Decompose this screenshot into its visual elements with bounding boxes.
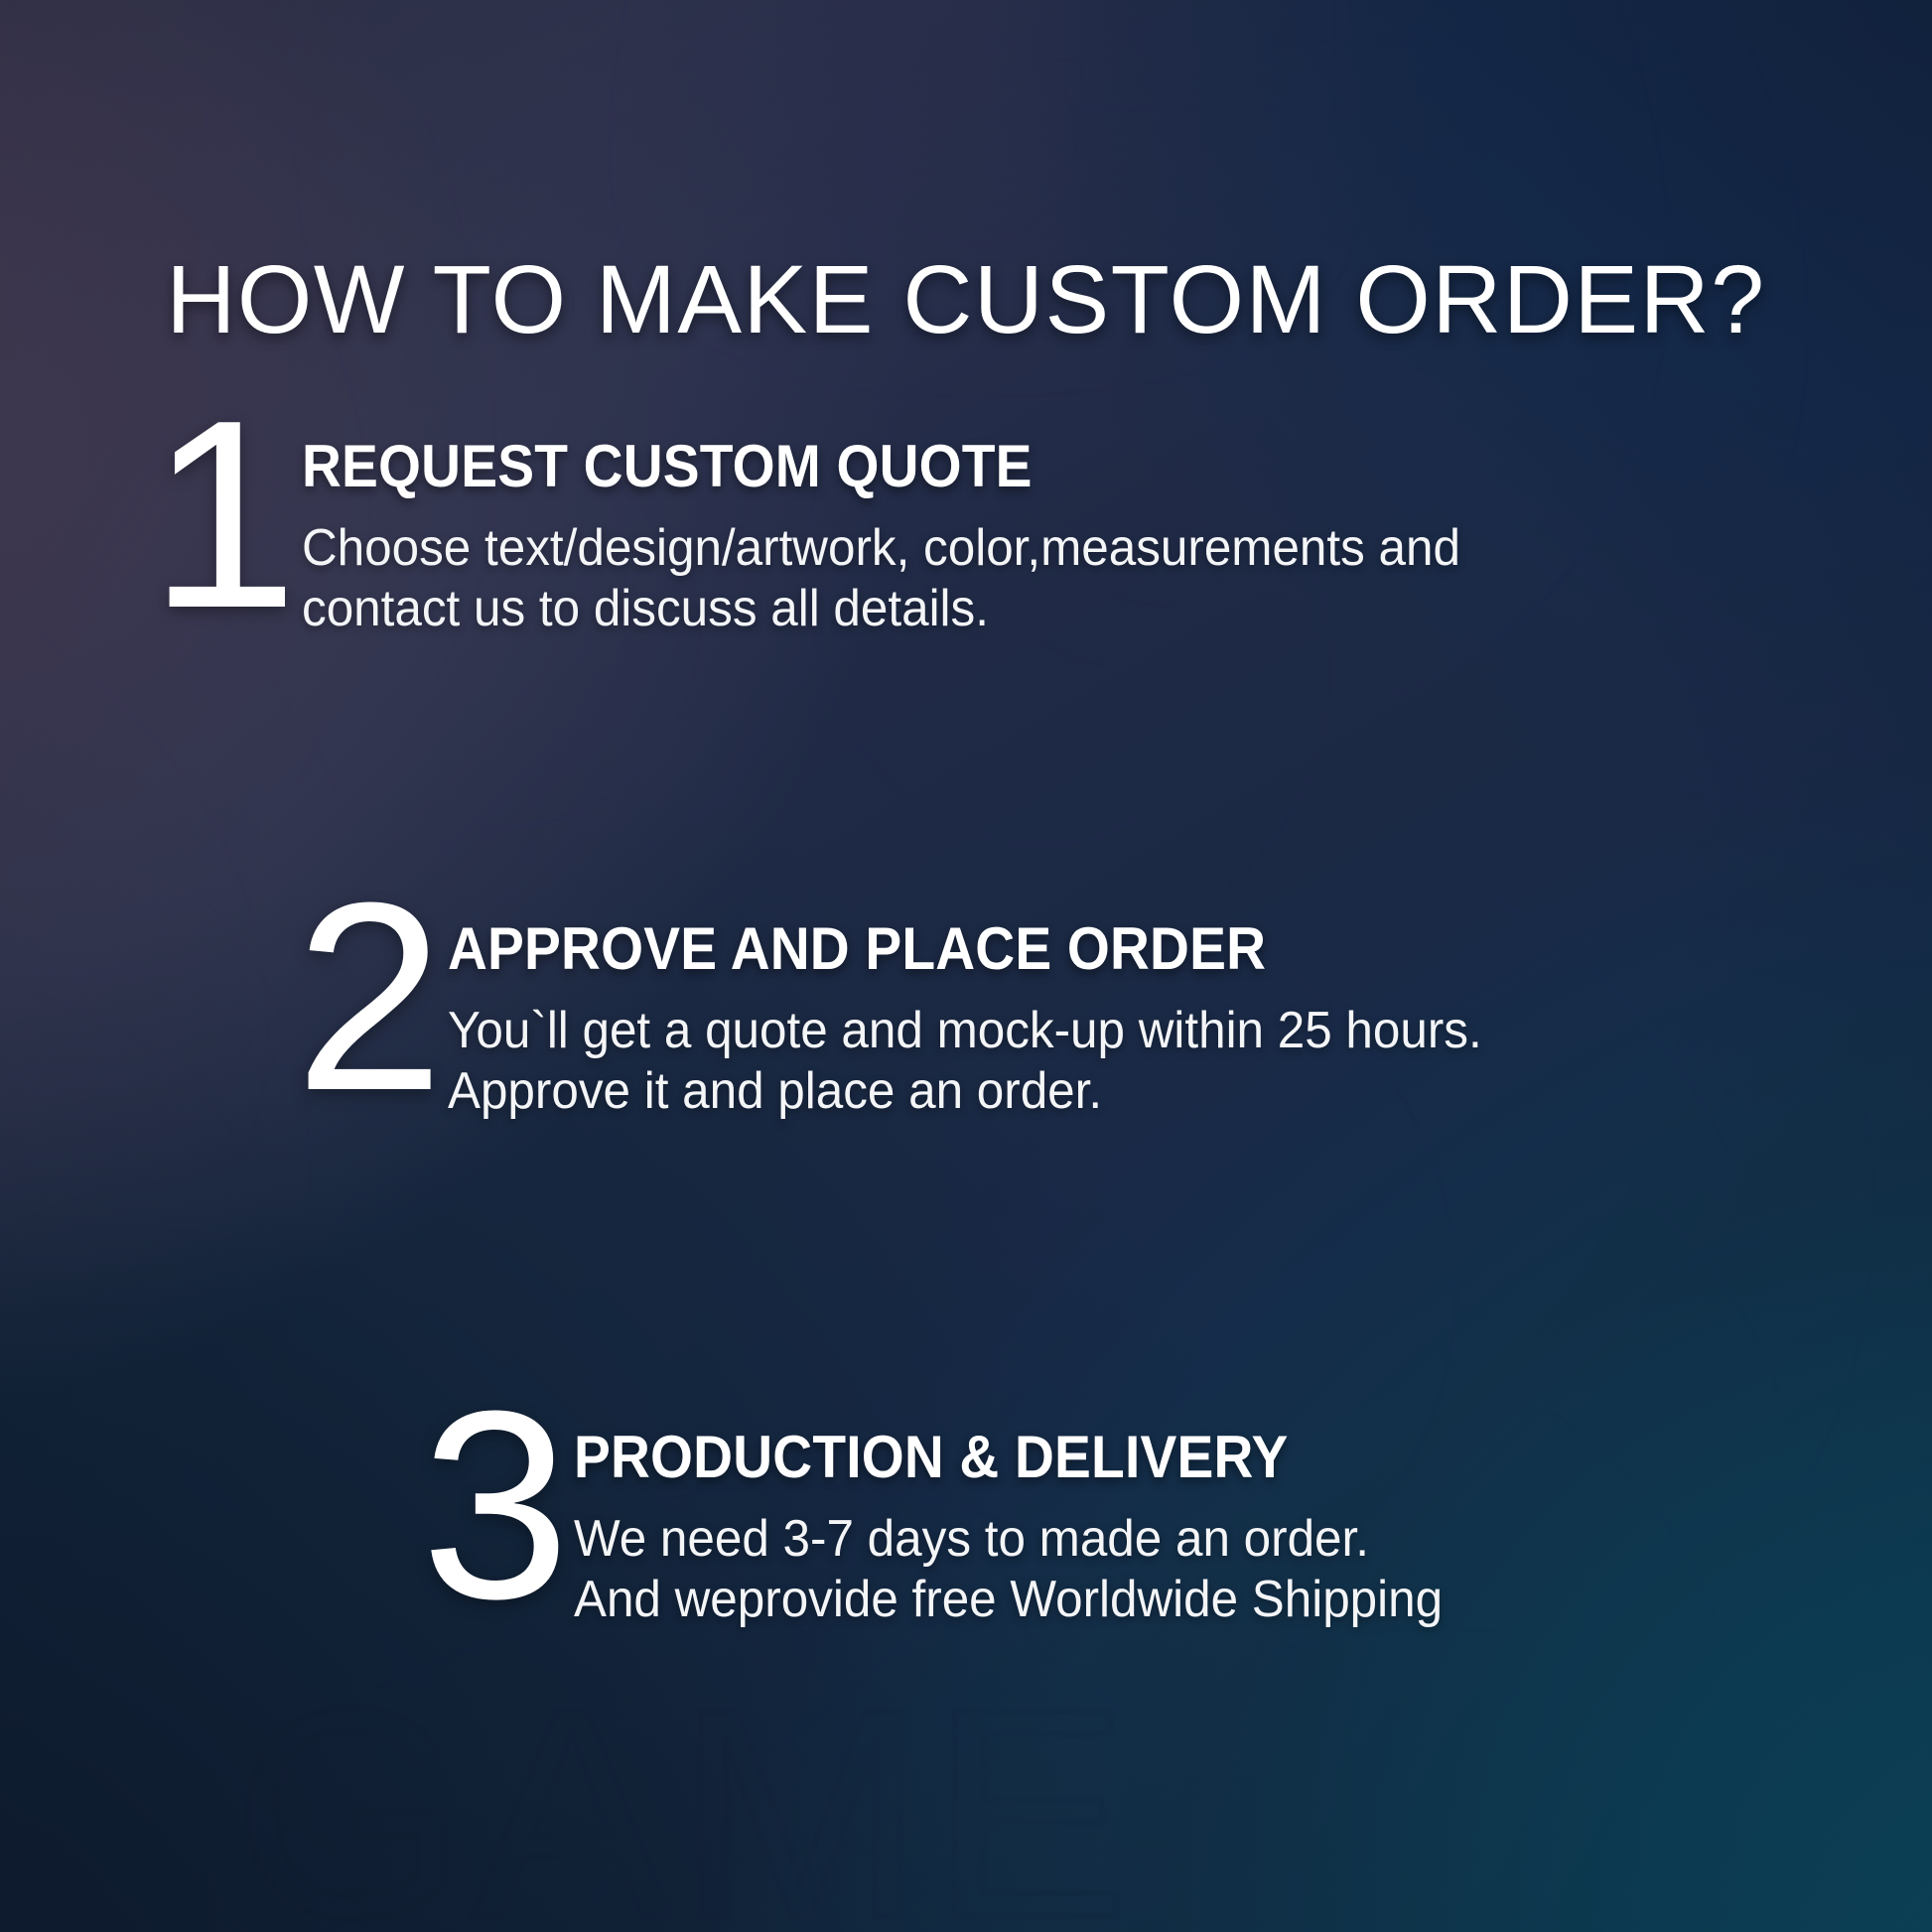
step-number-3: 3 [421,1402,566,1611]
step-description-1: Choose text/design/artwork, color,measur… [302,518,1460,640]
step-description-3: We need 3-7 days to made an order. And w… [574,1509,1443,1631]
step-heading-1: REQUEST CUSTOM QUOTE [302,437,1424,496]
step-item-3: 3 PRODUCTION & DELIVERY We need 3-7 days… [421,1402,1488,1631]
step-content-3: PRODUCTION & DELIVERY We need 3-7 days t… [574,1402,1488,1631]
step-heading-2: APPROVE AND PLACE ORDER [448,919,1449,979]
step-heading-3: PRODUCTION & DELIVERY [574,1428,1415,1487]
poster-content: HOW TO MAKE CUSTOM ORDER? 1 REQUEST CUST… [0,0,1932,1932]
step-description-2: You`ll get a quote and mock-up within 25… [448,1001,1482,1123]
step-content-2: APPROVE AND PLACE ORDER You`ll get a quo… [448,894,1537,1123]
step-item-1: 1 REQUEST CUSTOM QUOTE Choose text/desig… [149,411,1522,640]
step-number-2: 2 [295,894,440,1103]
step-item-2: 2 APPROVE AND PLACE ORDER You`ll get a q… [295,894,1537,1123]
step-number-1: 1 [149,411,294,621]
step-content-1: REQUEST CUSTOM QUOTE Choose text/design/… [302,411,1521,640]
page-title: HOW TO MAKE CUSTOM ORDER? [0,249,1932,350]
how-to-order-poster: GAME HOW TO MAKE CUSTOM ORDER? 1 REQUEST… [0,0,1932,1932]
